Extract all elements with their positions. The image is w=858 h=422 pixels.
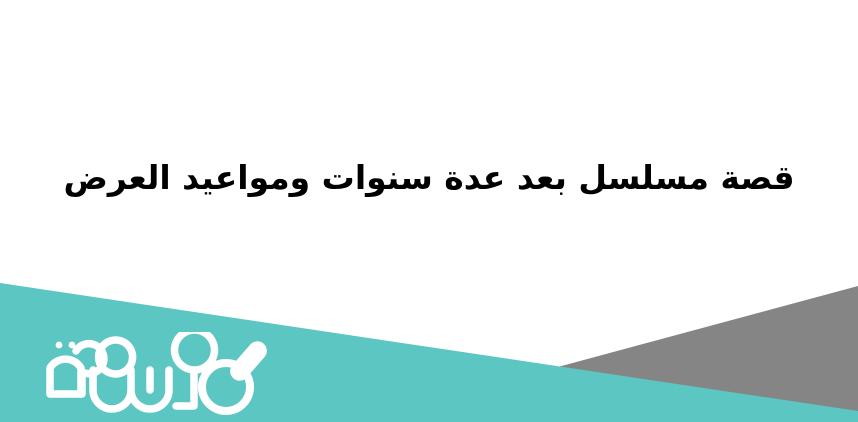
banner-canvas: قصة مسلسل بعد عدة سنوات ومواعيد العرض مو…: [0, 0, 858, 422]
logo-dot-2: [69, 342, 76, 349]
logo-letter-seen: [93, 370, 169, 409]
logo-letter-waw: [175, 332, 215, 406]
brand-logo: موسوعة: [10, 332, 295, 418]
logo-dot-1: [56, 342, 63, 349]
logo-letter-ta-marbuta: [50, 359, 81, 394]
